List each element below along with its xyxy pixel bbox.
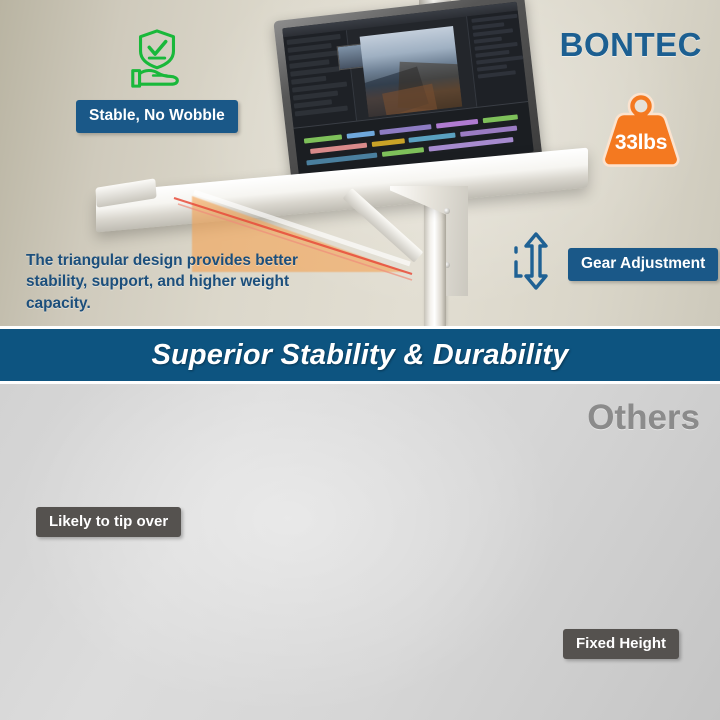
arrow-up-down-icon bbox=[508, 218, 552, 304]
laptop-screen bbox=[282, 2, 534, 179]
badge-label: Fixed Height bbox=[576, 635, 666, 652]
badge-label: Stable, No Wobble bbox=[89, 107, 225, 124]
shield-check-hand-icon bbox=[126, 28, 188, 90]
badge-label: Gear Adjustment bbox=[581, 255, 705, 272]
badge-label: Likely to tip over bbox=[49, 513, 168, 530]
infographic-page: BONTEC 33lbs Stable, No Wobbl bbox=[0, 0, 720, 720]
bontec-description: The triangular design provides better st… bbox=[26, 250, 336, 314]
bontec-description-line-2: stability, support, and higher weight ca… bbox=[26, 271, 336, 314]
bontec-description-line-1: The triangular design provides better bbox=[26, 250, 336, 271]
video-preview bbox=[359, 26, 462, 118]
badge-gear-adjustment[interactable]: Gear Adjustment bbox=[568, 248, 718, 281]
banner-title: Superior Stability & Durability bbox=[151, 339, 568, 372]
others-heading: Others bbox=[587, 398, 700, 438]
bontec-product-section: BONTEC 33lbs Stable, No Wobbl bbox=[0, 0, 720, 326]
section-banner: Superior Stability & Durability bbox=[0, 326, 720, 384]
badge-stable-no-wobble[interactable]: Stable, No Wobble bbox=[76, 100, 238, 133]
brand-logo-text: BONTEC bbox=[560, 26, 702, 63]
weight-icon bbox=[596, 88, 686, 170]
badge-likely-to-tip-over[interactable]: Likely to tip over bbox=[36, 507, 181, 537]
brand-logo: BONTEC bbox=[560, 26, 702, 64]
badge-fixed-height[interactable]: Fixed Height bbox=[563, 629, 679, 659]
weight-capacity-33lbs: 33lbs bbox=[596, 88, 686, 170]
